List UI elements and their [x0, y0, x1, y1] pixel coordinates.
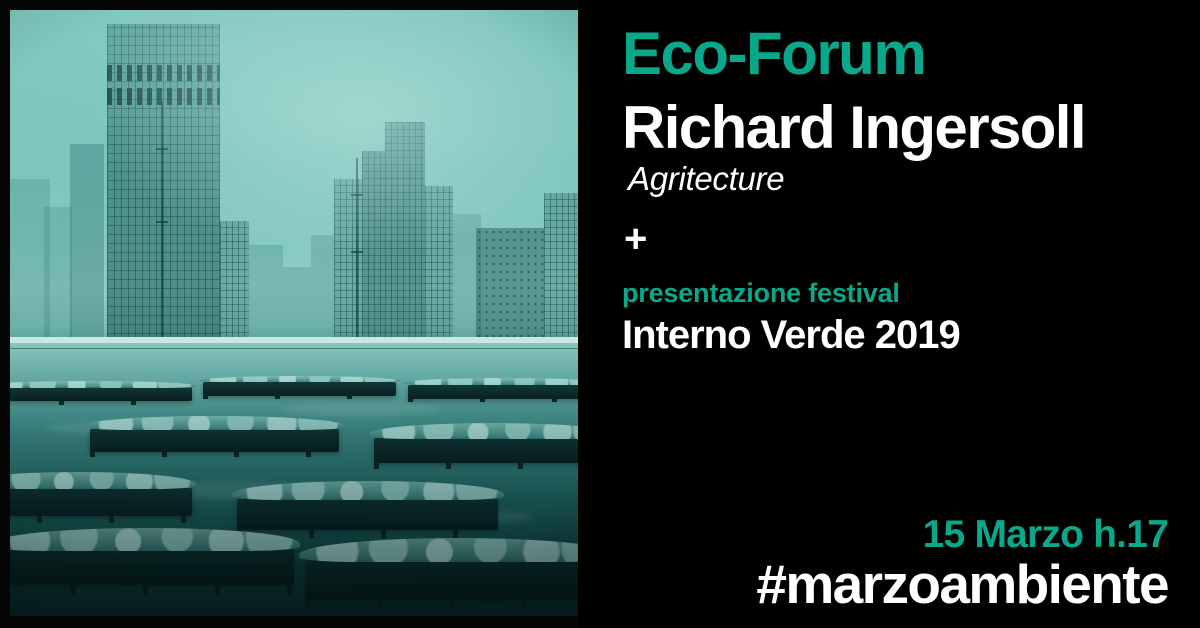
planter-bed: [305, 560, 578, 599]
festival-kicker: presentazione festival: [622, 279, 1174, 309]
planter-bed: [10, 549, 294, 585]
rooftop-farm-photo: [10, 10, 578, 616]
speaker-name: Richard Ingersoll: [622, 96, 1174, 160]
rooftop-deck: [10, 337, 578, 616]
festival-name: Interno Verde 2019: [622, 313, 1174, 357]
deck-parapet: [10, 337, 578, 343]
planter-bed: [237, 499, 498, 530]
main-tower: [107, 24, 221, 361]
planter-bed: [90, 429, 340, 451]
photo-scene: [10, 10, 578, 616]
event-poster: Eco-Forum Richard Ingersoll Agritecture …: [0, 0, 1200, 628]
planter-bed: [374, 438, 578, 463]
hashtag: #marzoambiente: [756, 554, 1168, 615]
planter-bed: [10, 488, 192, 516]
planter-bed: [203, 382, 396, 396]
text-panel: Eco-Forum Richard Ingersoll Agritecture …: [578, 0, 1200, 628]
antenna-mast: [356, 158, 358, 362]
antenna-mast: [161, 101, 163, 361]
date-time: 15 Marzo h.17: [756, 515, 1168, 556]
talk-title: Agritecture: [628, 161, 1174, 197]
event-details: Eco-Forum Richard Ingersoll Agritecture …: [622, 22, 1174, 357]
plus-icon: +: [624, 219, 1174, 259]
city-skyline: [10, 10, 578, 361]
series-title: Eco-Forum: [622, 22, 1174, 86]
planter-bed: [408, 385, 578, 399]
deck-railing: [10, 348, 578, 349]
footer-details: 15 Marzo h.17 #marzoambiente: [756, 515, 1168, 614]
planter-bed: [10, 387, 192, 401]
